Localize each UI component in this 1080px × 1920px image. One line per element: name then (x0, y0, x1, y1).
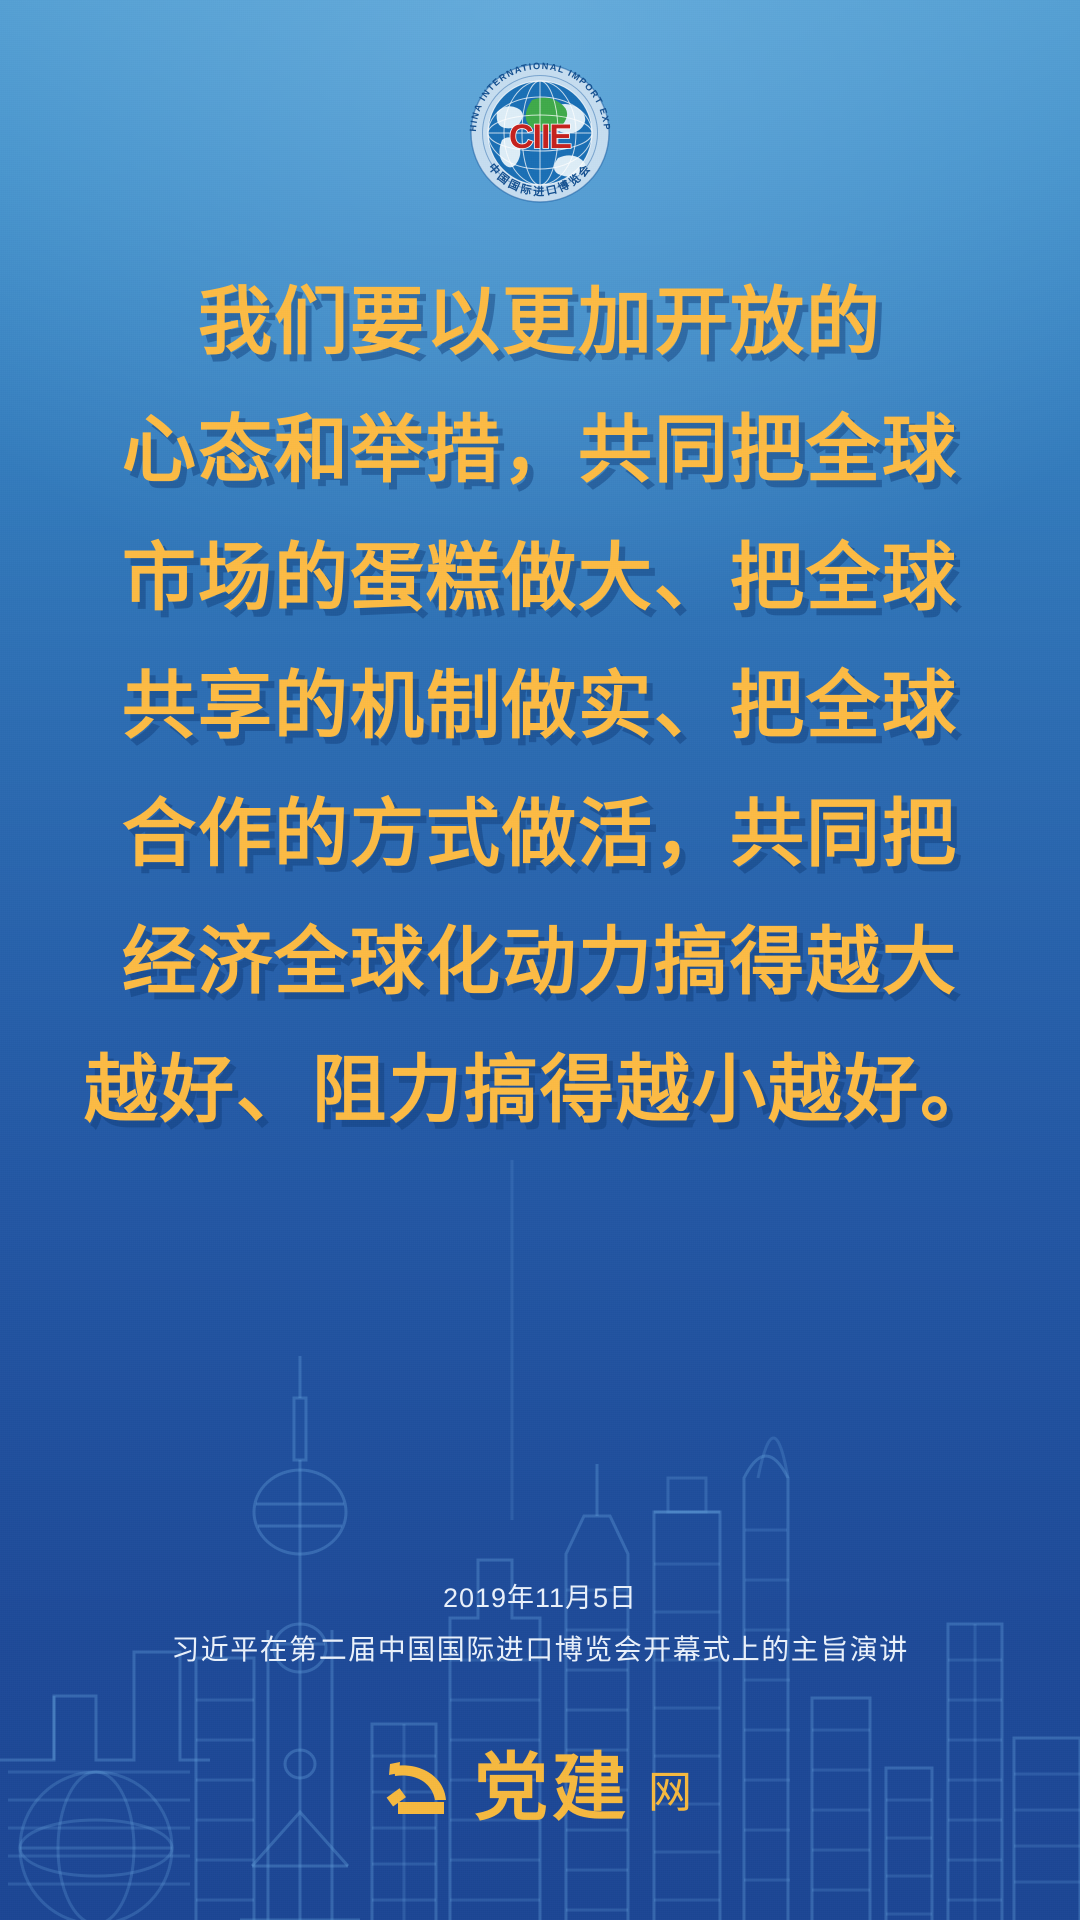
quote-block: 我们要以更加开放的 心态和举措，共同把全球 市场的蛋糕做大、把全球 共享的机制做… (0, 258, 1080, 1154)
quote-line-5: 合作的方式做活，共同把 (0, 770, 1080, 898)
brand-block: 党建 网 (0, 1752, 1080, 1826)
poster-canvas: CIIE CHINA INTERNATIONAL IMPORT EXPO 中国国… (0, 0, 1080, 1920)
quote-line-6: 经济全球化动力搞得越大 (0, 898, 1080, 1026)
attribution-block: 2019年11月5日 习近平在第二届中国国际进口博览会开幕式上的主旨演讲 (0, 1576, 1080, 1674)
quote-line-1: 我们要以更加开放的 (0, 258, 1080, 386)
hammer-and-sickle-icon (386, 1756, 456, 1822)
brand-suffix: 网 (648, 1756, 694, 1826)
ciie-logo: CIIE CHINA INTERNATIONAL IMPORT EXPO 中国国… (440, 62, 640, 204)
quote-line-2: 心态和举措，共同把全球 (0, 386, 1080, 514)
quote-line-7: 越好、阻力搞得越小越好。 (0, 1026, 1080, 1154)
quote-line-4: 共享的机制做实、把全球 (0, 642, 1080, 770)
svg-text:CIIE: CIIE (509, 118, 571, 156)
speech-source: 习近平在第二届中国国际进口博览会开幕式上的主旨演讲 (0, 1626, 1080, 1674)
quote-line-3: 市场的蛋糕做大、把全球 (0, 514, 1080, 642)
ciie-logo-container: CIIE CHINA INTERNATIONAL IMPORT EXPO 中国国… (0, 62, 1080, 204)
brand-name: 党建 (474, 1752, 630, 1826)
speech-date: 2019年11月5日 (0, 1576, 1080, 1620)
